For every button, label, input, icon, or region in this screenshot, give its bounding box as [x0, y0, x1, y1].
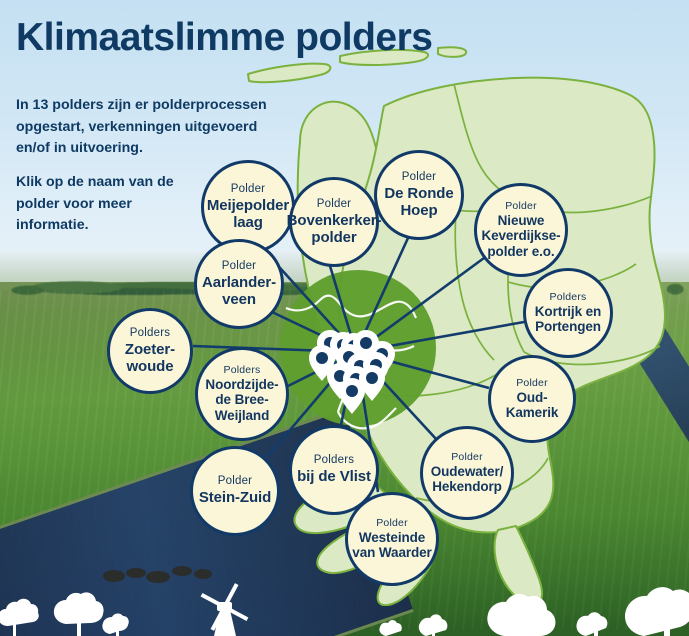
polder-bubble-name: Aarlander-veen [202, 274, 276, 309]
polder-bubble-aarlanderveen[interactable]: PolderAarlander-veen [194, 239, 284, 329]
polder-bubble-prefix: Polder [402, 171, 436, 185]
polder-bubble-name: Noordzijde-de Bree-Weijland [205, 377, 278, 424]
cow-silhouettes [100, 564, 220, 586]
polder-bubble-prefix: Polders [314, 454, 354, 468]
polder-bubble-name: bij de Vlist [297, 468, 371, 485]
polder-bubble-prefix: Polder [222, 260, 256, 274]
polder-bubble-prefix: Polder [516, 377, 548, 390]
intro-paragraph-1: In 13 polders zijn er polderprocessen op… [16, 95, 286, 160]
polder-bubble-prefix: Polder [376, 517, 408, 530]
polder-bubble-prefix: Polder [231, 183, 265, 197]
polder-bubble-name: Westeindevan Waarder [352, 530, 431, 561]
polder-bubble-prefix: Polder [218, 475, 252, 489]
intro-paragraph-2: Klik op de naam van de polder voor meer … [16, 172, 196, 237]
map-pin-pin-13[interactable] [339, 378, 365, 414]
polder-bubble-bovenkerkerpolder[interactable]: PolderBovenkerker-polder [289, 177, 379, 267]
polder-bubble-name: NieuweKeverdijkse-polder e.o. [481, 213, 560, 260]
polder-bubble-prefix: Polders [130, 327, 170, 341]
polder-bubble-name: Stein-Zuid [199, 489, 271, 506]
polder-bubble-prefix: Polder [505, 200, 537, 213]
polder-bubble-name: Oudewater/Hekendorp [431, 464, 504, 495]
polder-bubble-zoetwoude[interactable]: PoldersZoeter-woude [107, 308, 193, 394]
polder-bubble-oud-kamerik[interactable]: PolderOud-Kamerik [488, 355, 576, 443]
polder-bubble-prefix: Polders [223, 364, 260, 377]
polder-bubble-stein-zuid[interactable]: PolderStein-Zuid [190, 446, 280, 536]
polder-bubble-prefix: Polder [451, 451, 483, 464]
polder-bubble-name: Oud-Kamerik [491, 390, 573, 421]
polder-bubble-prefix: Polders [549, 291, 586, 304]
infographic-root: Klimaatslimme polders In 13 polders zijn… [0, 0, 689, 636]
polder-bubble-name: De RondeHoep [384, 185, 453, 220]
page-title: Klimaatslimme polders [16, 18, 432, 59]
polder-bubble-name: Zoeter-woude [125, 341, 175, 376]
polder-bubble-nieuwe-keverdijksepolder[interactable]: PolderNieuweKeverdijkse-polder e.o. [474, 183, 568, 277]
polder-bubble-westeinde-van-waarder[interactable]: PolderWesteindevan Waarder [345, 492, 439, 586]
polder-bubble-prefix: Polder [317, 198, 351, 212]
polder-bubble-name: Bovenkerker-polder [287, 212, 382, 247]
polder-bubble-name: Kortrijk enPortengen [535, 304, 601, 335]
polder-bubble-noordzijde-de-bree-weijland[interactable]: PoldersNoordzijde-de Bree-Weijland [195, 347, 289, 441]
polder-bubble-oudewater-hekendorp[interactable]: PolderOudewater/Hekendorp [420, 426, 514, 520]
polder-bubble-kortrijk-en-portengen[interactable]: PoldersKortrijk enPortengen [523, 268, 613, 358]
polder-bubble-de-ronde-hoep[interactable]: PolderDe RondeHoep [374, 150, 464, 240]
polder-bubble-name: Meijepolderlaag [207, 197, 289, 232]
